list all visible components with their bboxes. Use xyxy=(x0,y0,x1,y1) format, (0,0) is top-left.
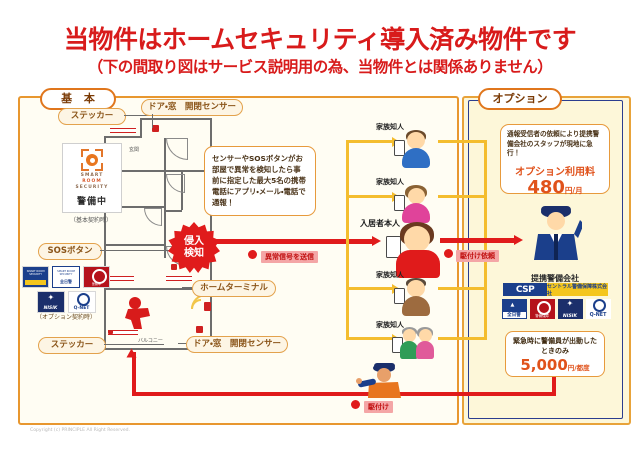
flow-dot-signal xyxy=(248,250,257,259)
csp-logo: CSP セントラル警備保障株式会社 xyxy=(503,283,608,296)
csp-logo-mark: CSP xyxy=(503,283,547,296)
flow-branch-family-3 xyxy=(346,287,394,290)
guard-logo-qnet: Q-NET xyxy=(586,299,611,319)
flow-line-rush-vertical-left xyxy=(132,352,136,396)
label-sos-button: SOSボタン xyxy=(38,243,102,260)
flow-line-right-1 xyxy=(438,140,486,143)
emergency-dispatch-fee-box: 緊急時に警備員が出動したときのみ 5,000円/都度 xyxy=(505,331,605,377)
basic-panel-tag: 基 本 xyxy=(40,88,116,110)
emergency-fee-value: 5,000 xyxy=(520,356,567,374)
flow-branch-family-4 xyxy=(346,337,394,340)
label-door-window-sensor-top: ドア・窓 開閉センサー xyxy=(141,99,243,116)
mini-logo-qnet: Q-NET xyxy=(68,291,96,313)
intruder-icon xyxy=(122,296,156,330)
person-family-1 xyxy=(390,130,436,170)
option-callout-description: 通報受信者の依頼により提携警備会社のスタッフが現地に急行！ xyxy=(507,130,603,159)
leader-line-terminal xyxy=(182,287,192,288)
leader-line-door-top xyxy=(152,114,153,128)
emergency-dispatch-text: 緊急時に警備員が出動したときのみ xyxy=(510,336,600,356)
emergency-fee-unit: 円/都度 xyxy=(568,364,590,372)
option-sticker-note: （オプション契約時） xyxy=(22,312,110,321)
label-door-window-sensor-bottom: ドア・窓 開閉センサー xyxy=(186,336,288,353)
room-label-balcony: バルコニー xyxy=(138,337,163,344)
emergency-dispatch-amount: 5,000円/都度 xyxy=(510,357,600,377)
label-sticker-bottom: ステッカー xyxy=(38,337,106,354)
flow-line-right-2 xyxy=(438,195,486,198)
flow-dot-rush xyxy=(351,400,360,409)
mini-logo-smart-room-security: SMART ROOM SECURITY xyxy=(22,266,49,288)
option-fee-label: オプション利用料 xyxy=(507,163,603,178)
flow-line-right-3 xyxy=(438,287,486,290)
page-subtitle: （下の間取り図はサービス説明用の為、当物件とは関係ありません） xyxy=(0,55,640,77)
guard-logo-zennikkei: ▲ 全日警 xyxy=(502,299,527,319)
sticker-japanese-text: 警備中 xyxy=(77,194,107,207)
person-family-3 xyxy=(390,278,436,318)
flow-arrow-dispatch xyxy=(514,235,523,245)
sensor-alert-callout: センサーやSOSボタンがお部屋で異常を検知したら事前に指定した最大5名の携帯電話… xyxy=(204,146,316,216)
flow-line-dispatch xyxy=(440,238,516,243)
page-title: 当物件はホームセキュリティ導入済み物件です xyxy=(0,20,640,56)
label-home-terminal: ホームターミナル xyxy=(192,280,276,297)
room-label-genkan: 玄関 xyxy=(129,146,139,153)
smart-room-security-sticker: SMART ROOM SECURITY 警備中 xyxy=(62,143,122,213)
copyright-text: Copyright (c) PRINCIPLE All Right Reserv… xyxy=(30,428,130,433)
flow-arrow-signal xyxy=(372,236,381,246)
leader-line-sticker-bottom xyxy=(104,344,164,345)
mini-logo-zennikkei: SMART ROOM SECURITY 全日警 xyxy=(52,266,79,288)
burst-line-2: 検知 xyxy=(184,248,204,260)
burst-line-1: 侵入 xyxy=(184,236,204,248)
running-guard-icon xyxy=(356,360,410,400)
sticker-line-3: SECURITY xyxy=(76,185,109,191)
option-panel-tag: オプション xyxy=(478,88,562,110)
option-service-callout: 通報受信者の依頼により提携警備会社のスタッフが現地に急行！ オプション利用料 4… xyxy=(500,124,610,194)
security-guard-icon xyxy=(530,200,582,262)
guard-logo-red-circle: 警備保障 xyxy=(530,299,555,319)
security-logo-icon xyxy=(81,149,103,171)
flow-arrow-rush xyxy=(127,349,137,358)
flow-line-signal-horizontal xyxy=(214,239,374,244)
flow-spine-vertical xyxy=(346,140,349,340)
flow-branch-family-1 xyxy=(346,140,394,143)
flow-label-signal: 異常信号を送信 xyxy=(261,251,318,263)
option-fee-unit: 円/月 xyxy=(565,186,583,195)
flow-label-dispatch: 駆付け依頼 xyxy=(456,250,499,262)
partner-company-logos: ▲ 全日警 警備保障 ✦ NISIK Q-NET xyxy=(500,299,612,319)
flow-label-rush: 駆付け xyxy=(364,401,393,413)
label-sticker-top: ステッカー xyxy=(58,108,126,125)
mini-logo-red-circle: 警備中 xyxy=(83,266,110,288)
sticker-note: （基本契約時） xyxy=(62,215,120,224)
flow-line-rush-horizontal xyxy=(132,392,556,396)
flow-dot-dispatch xyxy=(444,249,453,258)
flow-branch-family-2 xyxy=(346,195,394,198)
option-sticker-logos: SMART ROOM SECURITY SMART ROOM SECURITY … xyxy=(22,266,110,316)
csp-logo-fullname: セントラル警備保障株式会社 xyxy=(547,283,608,296)
option-fee-value: 480 xyxy=(527,177,565,198)
flow-line-right-4 xyxy=(438,337,486,340)
mini-logo-nisik: ✦ NISIK xyxy=(37,291,65,313)
leader-line-door-bottom xyxy=(178,343,186,344)
option-fee-amount: 480円/月 xyxy=(507,178,603,200)
guard-logo-nisik: ✦ NISIK xyxy=(558,299,583,319)
